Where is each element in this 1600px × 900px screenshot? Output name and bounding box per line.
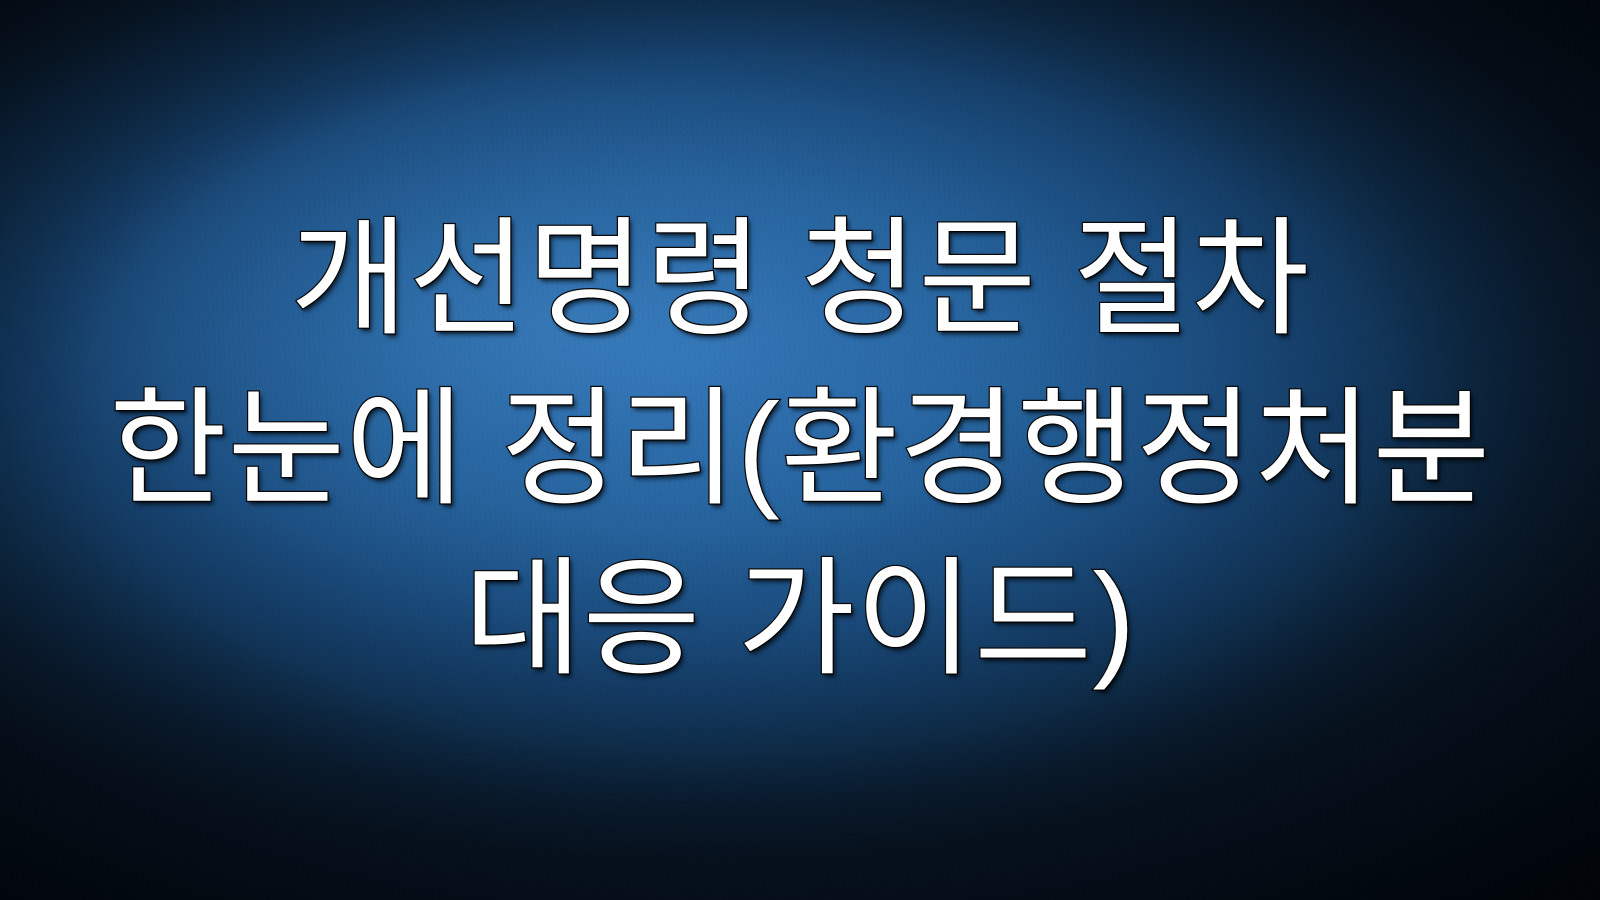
slide-title: 개선명령 청문 절차 한눈에 정리(환경행정처분 대응 가이드) [100,195,1500,706]
title-slide: 개선명령 청문 절차 한눈에 정리(환경행정처분 대응 가이드) [0,0,1600,900]
title-container: 개선명령 청문 절차 한눈에 정리(환경행정처분 대응 가이드) [0,0,1600,900]
